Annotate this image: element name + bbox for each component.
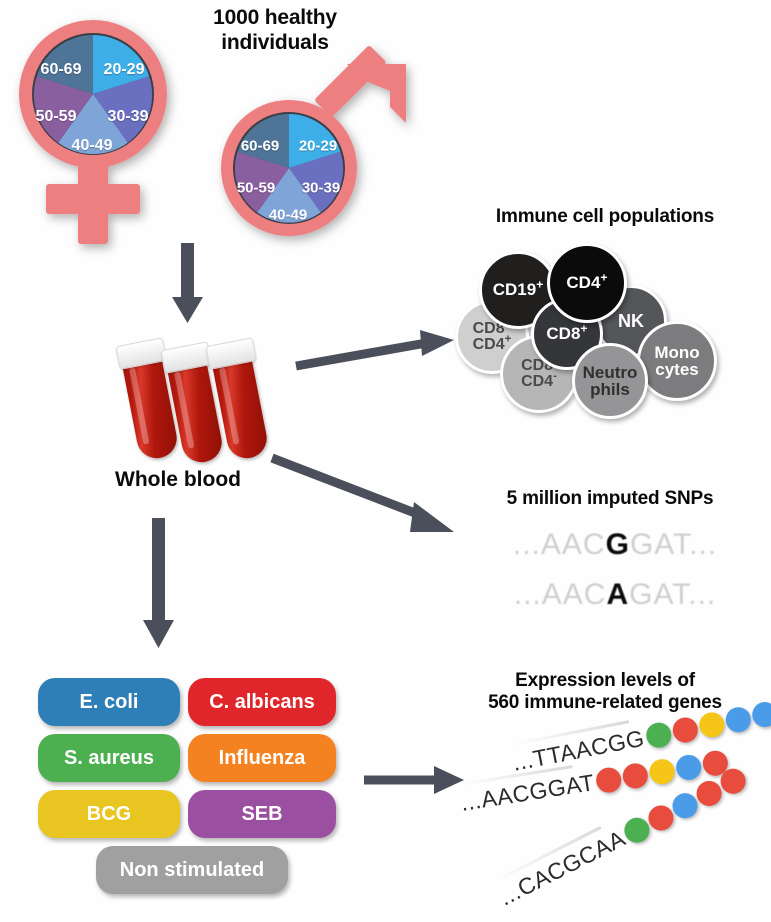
immune-cell-label: Neutro phils [583, 364, 638, 399]
whole-blood-tubes [100, 330, 280, 470]
pie-label-20-29: 20-29 [104, 61, 145, 79]
snp-prefix: ...AAC [513, 528, 606, 561]
pie-label-40-49: 40-49 [72, 137, 113, 155]
cohort-title: 1000 healthy individuals [170, 6, 380, 56]
snp-sequence-row: ...AACGGAT... [470, 528, 760, 562]
snp-prefix: ...AAC [514, 578, 607, 611]
stimulus-label: E. coli [80, 691, 139, 714]
male-gender-symbol: 20-29 30-39 40-49 50-59 60-69 [206, 58, 416, 248]
immune-cell-bubbles: CD8+ CD4+ CD19+ CD4+ NK CD8+ CD8- CD4- N… [455, 243, 765, 428]
expression-bead [697, 710, 726, 739]
stimulus-bcg[interactable]: BCG [38, 790, 180, 838]
snp-suffix: GAT... [630, 528, 717, 561]
expression-bead [648, 757, 677, 786]
female-gender-symbol: 20-29 30-39 40-49 50-59 60-69 [8, 12, 178, 252]
expression-title: Expression levels of 560 immune-related … [440, 670, 770, 715]
snp-title: 5 million imputed SNPs [455, 488, 765, 510]
expression-title-line1: Expression levels of [440, 670, 770, 692]
expression-bead [670, 715, 699, 744]
pie-label-30-39: 30-39 [108, 108, 149, 126]
expression-bead [644, 721, 673, 750]
immune-cell-neutrophils: Neutro phils [572, 343, 648, 419]
snp-sequences: ...AACGGAT... ...AACAGAT... [470, 528, 760, 623]
expression-bead [750, 700, 771, 729]
snp-suffix: GAT... [629, 578, 716, 611]
immune-cell-label: CD19+ [493, 281, 544, 298]
stimulus-label: C. albicans [209, 691, 315, 714]
cohort-title-line1: 1000 healthy [170, 6, 380, 31]
stimulus-e-coli[interactable]: E. coli [38, 678, 180, 726]
immune-cell-cd4pos: CD4+ [547, 243, 627, 323]
expression-bead [621, 762, 650, 791]
stimulus-s-aureus[interactable]: S. aureus [38, 734, 180, 782]
pie-label-60-69: 60-69 [241, 138, 279, 155]
stimulus-label: S. aureus [64, 747, 154, 770]
stimulus-seb[interactable]: SEB [188, 790, 336, 838]
stimulus-c-albicans[interactable]: C. albicans [188, 678, 336, 726]
gene-sequence: ...AACGGAT [459, 769, 596, 817]
immune-cell-label: CD8+ [546, 325, 587, 342]
pie-label-50-59: 50-59 [237, 180, 275, 197]
stimuli-panel: E. coli C. albicans S. aureus Influenza … [38, 678, 348, 893]
arrow-blood-to-stimuli [133, 518, 185, 650]
stimulus-label: SEB [241, 803, 282, 826]
arrow-blood-to-snp [268, 452, 463, 542]
arrow-blood-to-immune [292, 330, 457, 372]
arrow-stimuli-to-expression [362, 762, 466, 798]
whole-blood-label: Whole blood [88, 468, 268, 492]
stimulus-label: BCG [87, 803, 131, 826]
pie-label-20-29: 20-29 [299, 138, 337, 155]
expression-bead [674, 753, 703, 782]
immune-cell-monocytes: Mono cytes [637, 321, 717, 401]
stimulus-non-stimulated[interactable]: Non stimulated [96, 846, 288, 894]
snp-variant-allele: G [606, 528, 630, 561]
snp-sequence-row: ...AACAGAT... [470, 578, 760, 612]
stimulus-label: Non stimulated [120, 859, 264, 882]
immune-cell-label: Mono cytes [654, 344, 699, 379]
immune-cell-label: NK [618, 312, 644, 330]
pie-label-60-69: 60-69 [41, 61, 82, 79]
immune-cell-label: CD4+ [566, 274, 607, 291]
gene-expression-chains: ...TTAACGG ...AACGGAT ...CACGCAA [455, 718, 771, 918]
pie-label-30-39: 30-39 [302, 180, 340, 197]
arrow-cohort-to-blood [160, 243, 215, 325]
female-symbol-shape [8, 12, 178, 252]
expression-bead [594, 766, 623, 795]
expression-bead [723, 705, 752, 734]
pie-label-40-49: 40-49 [269, 207, 307, 224]
cohort-title-line2: individuals [170, 31, 380, 56]
snp-variant-allele: A [606, 578, 629, 611]
pie-label-50-59: 50-59 [36, 108, 77, 126]
stimulus-influenza[interactable]: Influenza [188, 734, 336, 782]
stimulus-label: Influenza [219, 747, 306, 770]
immune-populations-title: Immune cell populations [440, 206, 770, 228]
